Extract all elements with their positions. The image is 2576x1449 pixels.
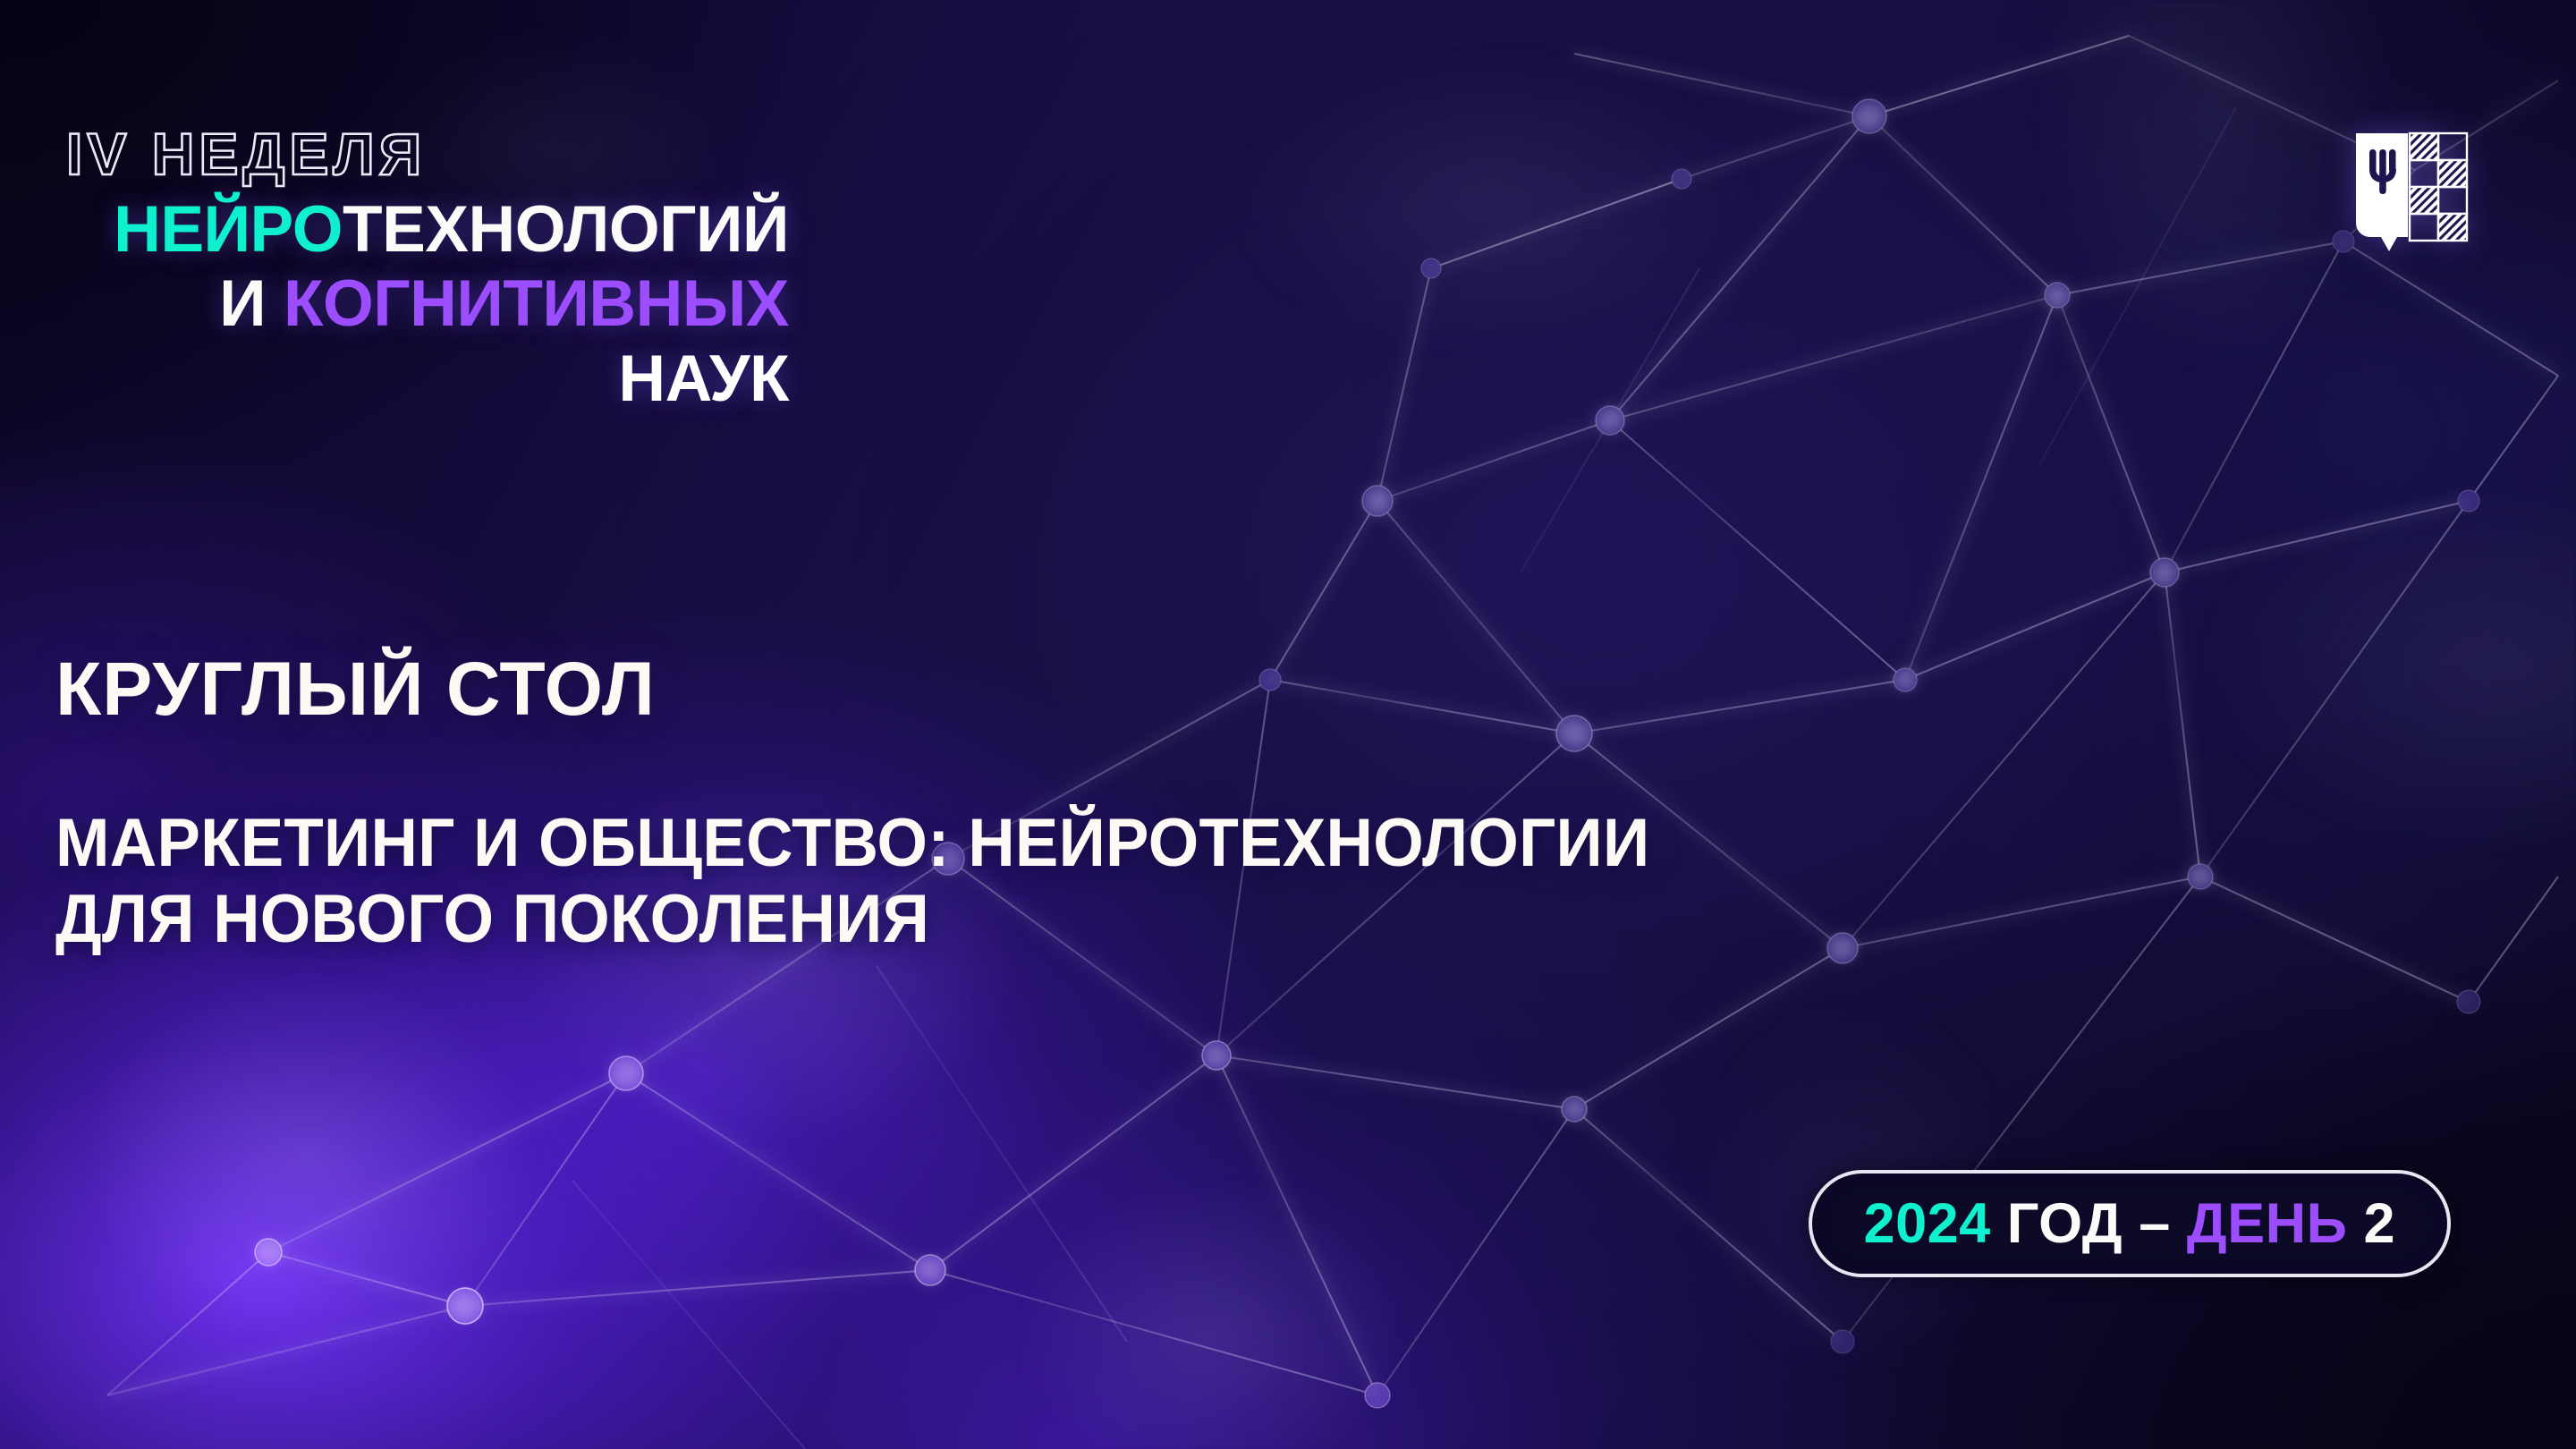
- badge-day-word: ДЕНЬ: [2187, 1192, 2348, 1255]
- poster-canvas: IV НЕДЕЛЯ НЕЙРОТЕХНОЛОГИЙ И КОГНИТИВНЫХ …: [0, 0, 2576, 1449]
- event-title-conjunction: И: [219, 267, 284, 340]
- badge-year: 2024: [1864, 1192, 1991, 1255]
- session-title: МАРКЕТИНГ И ОБЩЕСТВО: НЕЙРОТЕХНОЛОГИИ ДЛ…: [55, 805, 2106, 957]
- event-edition-label: IV НЕДЕЛЯ: [55, 125, 789, 183]
- event-title-cognitive-word: КОГНИТИВНЫХ: [284, 267, 789, 340]
- session-format-kicker: КРУГЛЫЙ СТОЛ: [55, 651, 2202, 726]
- event-title-line-sciences: НАУК: [55, 347, 789, 411]
- title-block: КРУГЛЫЙ СТОЛ МАРКЕТИНГ И ОБЩЕСТВО: НЕЙРО…: [55, 651, 2202, 957]
- date-badge-text: 2024 ГОД – ДЕНЬ 2: [1864, 1196, 2395, 1252]
- badge-day-number: 2: [2363, 1192, 2395, 1255]
- session-title-line-1: МАРКЕТИНГ И ОБЩЕСТВО: НЕЙРОТЕХНОЛОГИИ: [55, 805, 2106, 881]
- event-title-neuro-prefix: НЕЙРО: [114, 193, 343, 266]
- date-badge: 2024 ГОД – ДЕНЬ 2: [1809, 1170, 2451, 1277]
- shield-book-psi-logo: [2352, 130, 2470, 268]
- logo-right-leaf: [2410, 133, 2467, 241]
- badge-separator: –: [2139, 1192, 2171, 1255]
- event-title-line-cognitive: И КОГНИТИВНЫХ: [55, 272, 789, 336]
- badge-year-word: ГОД: [2007, 1192, 2123, 1255]
- event-lockup: IV НЕДЕЛЯ НЕЙРОТЕХНОЛОГИЙ И КОГНИТИВНЫХ …: [55, 125, 789, 411]
- session-title-line-2: ДЛЯ НОВОГО ПОКОЛЕНИЯ: [55, 881, 2106, 957]
- event-title-line-neurotech: НЕЙРОТЕХНОЛОГИЙ: [55, 198, 789, 262]
- event-title-tech-suffix: ТЕХНОЛОГИЙ: [343, 193, 789, 266]
